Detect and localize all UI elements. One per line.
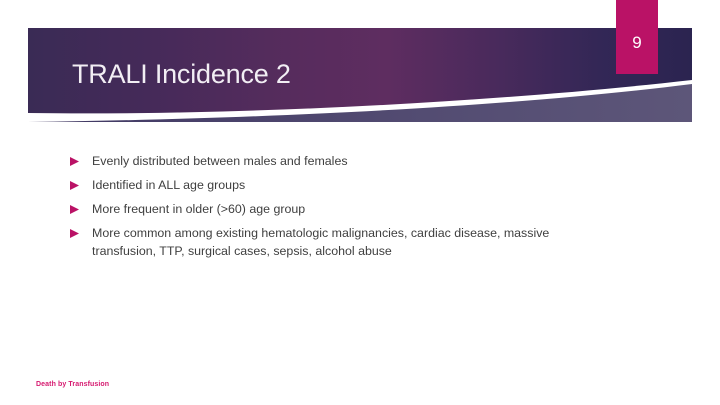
bullet-list: Evenly distributed between males and fem…	[70, 153, 580, 267]
page-title: TRALI Incidence 2	[72, 59, 291, 90]
footer-note: Death by Transfusion	[36, 381, 109, 388]
triangle-right-icon	[70, 225, 92, 238]
slide-number-badge: 9	[616, 0, 658, 74]
triangle-right-icon	[70, 177, 92, 190]
list-item-label: Evenly distributed between males and fem…	[92, 153, 580, 171]
list-item-label: Identified in ALL age groups	[92, 177, 580, 195]
list-item: Identified in ALL age groups	[70, 177, 580, 195]
list-item: More common among existing hematologic m…	[70, 225, 580, 260]
triangle-right-icon	[70, 201, 92, 214]
slide-number-text: 9	[616, 34, 658, 51]
triangle-right-icon	[70, 153, 92, 166]
list-item: Evenly distributed between males and fem…	[70, 153, 580, 171]
list-item-label: More frequent in older (>60) age group	[92, 201, 580, 219]
list-item: More frequent in older (>60) age group	[70, 201, 580, 219]
list-item-label: More common among existing hematologic m…	[92, 225, 580, 260]
presentation-slide: TRALI Incidence 2 9 Evenly distributed b…	[0, 0, 720, 405]
